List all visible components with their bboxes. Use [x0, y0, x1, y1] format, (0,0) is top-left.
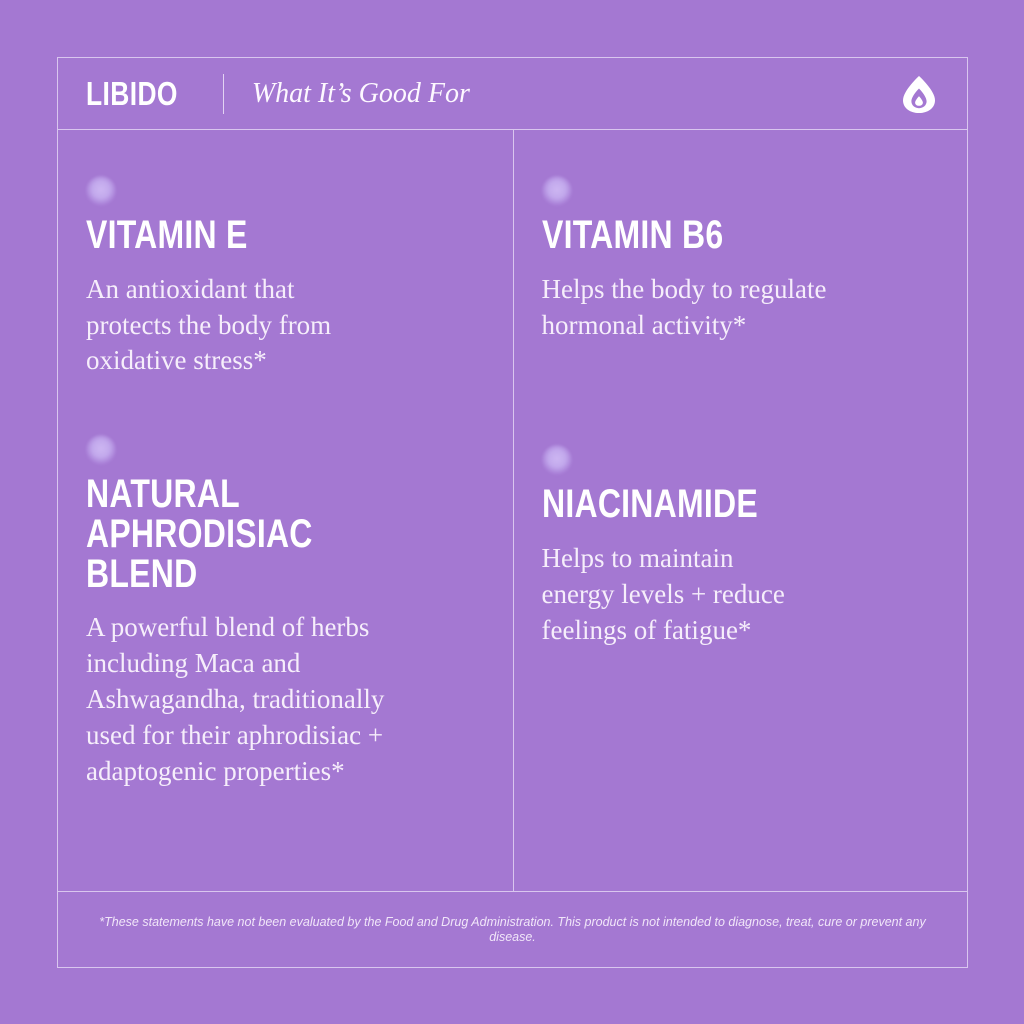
- column-right: VITAMIN B6 Helps the body to regulate ho…: [513, 130, 968, 891]
- ingredient-block: NATURAL APHRODISIAC BLEND A powerful ble…: [86, 435, 479, 789]
- ingredient-block: VITAMIN E An antioxidant that protects t…: [86, 176, 479, 379]
- ingredient-block: NIACINAMIDE Helps to maintain energy lev…: [542, 445, 934, 648]
- ingredient-title: VITAMIN B6: [542, 216, 934, 256]
- header-divider: [223, 74, 224, 114]
- ingredient-description: Helps to maintain energy levels + reduce…: [542, 541, 934, 649]
- ingredient-description: An antioxidant that protects the body fr…: [86, 272, 479, 380]
- card-header: LIBIDO What It’s Good For: [58, 58, 967, 130]
- bullet-dot-icon: [86, 176, 116, 206]
- flame-icon: [897, 72, 941, 116]
- ingredient-description: Helps the body to regulate hormonal acti…: [542, 272, 934, 344]
- disclaimer-text: *These statements have not been evaluate…: [58, 915, 967, 945]
- header-tagline: What It’s Good For: [252, 80, 470, 108]
- bullet-dot-icon: [542, 176, 572, 206]
- ingredient-description: A powerful blend of herbs including Maca…: [86, 610, 479, 790]
- ingredient-block: VITAMIN B6 Helps the body to regulate ho…: [542, 176, 934, 343]
- card-footer: *These statements have not been evaluate…: [58, 891, 967, 967]
- ingredient-title: VITAMIN E: [86, 216, 479, 256]
- info-card: LIBIDO What It’s Good For VITAMIN E An a…: [57, 57, 968, 968]
- ingredient-title: NATURAL APHRODISIAC BLEND: [86, 475, 479, 594]
- content-columns: VITAMIN E An antioxidant that protects t…: [58, 130, 967, 891]
- brand-title: LIBIDO: [86, 77, 178, 110]
- bullet-dot-icon: [542, 445, 572, 475]
- column-left: VITAMIN E An antioxidant that protects t…: [58, 130, 513, 891]
- bullet-dot-icon: [86, 435, 116, 465]
- ingredient-title: NIACINAMIDE: [542, 485, 934, 525]
